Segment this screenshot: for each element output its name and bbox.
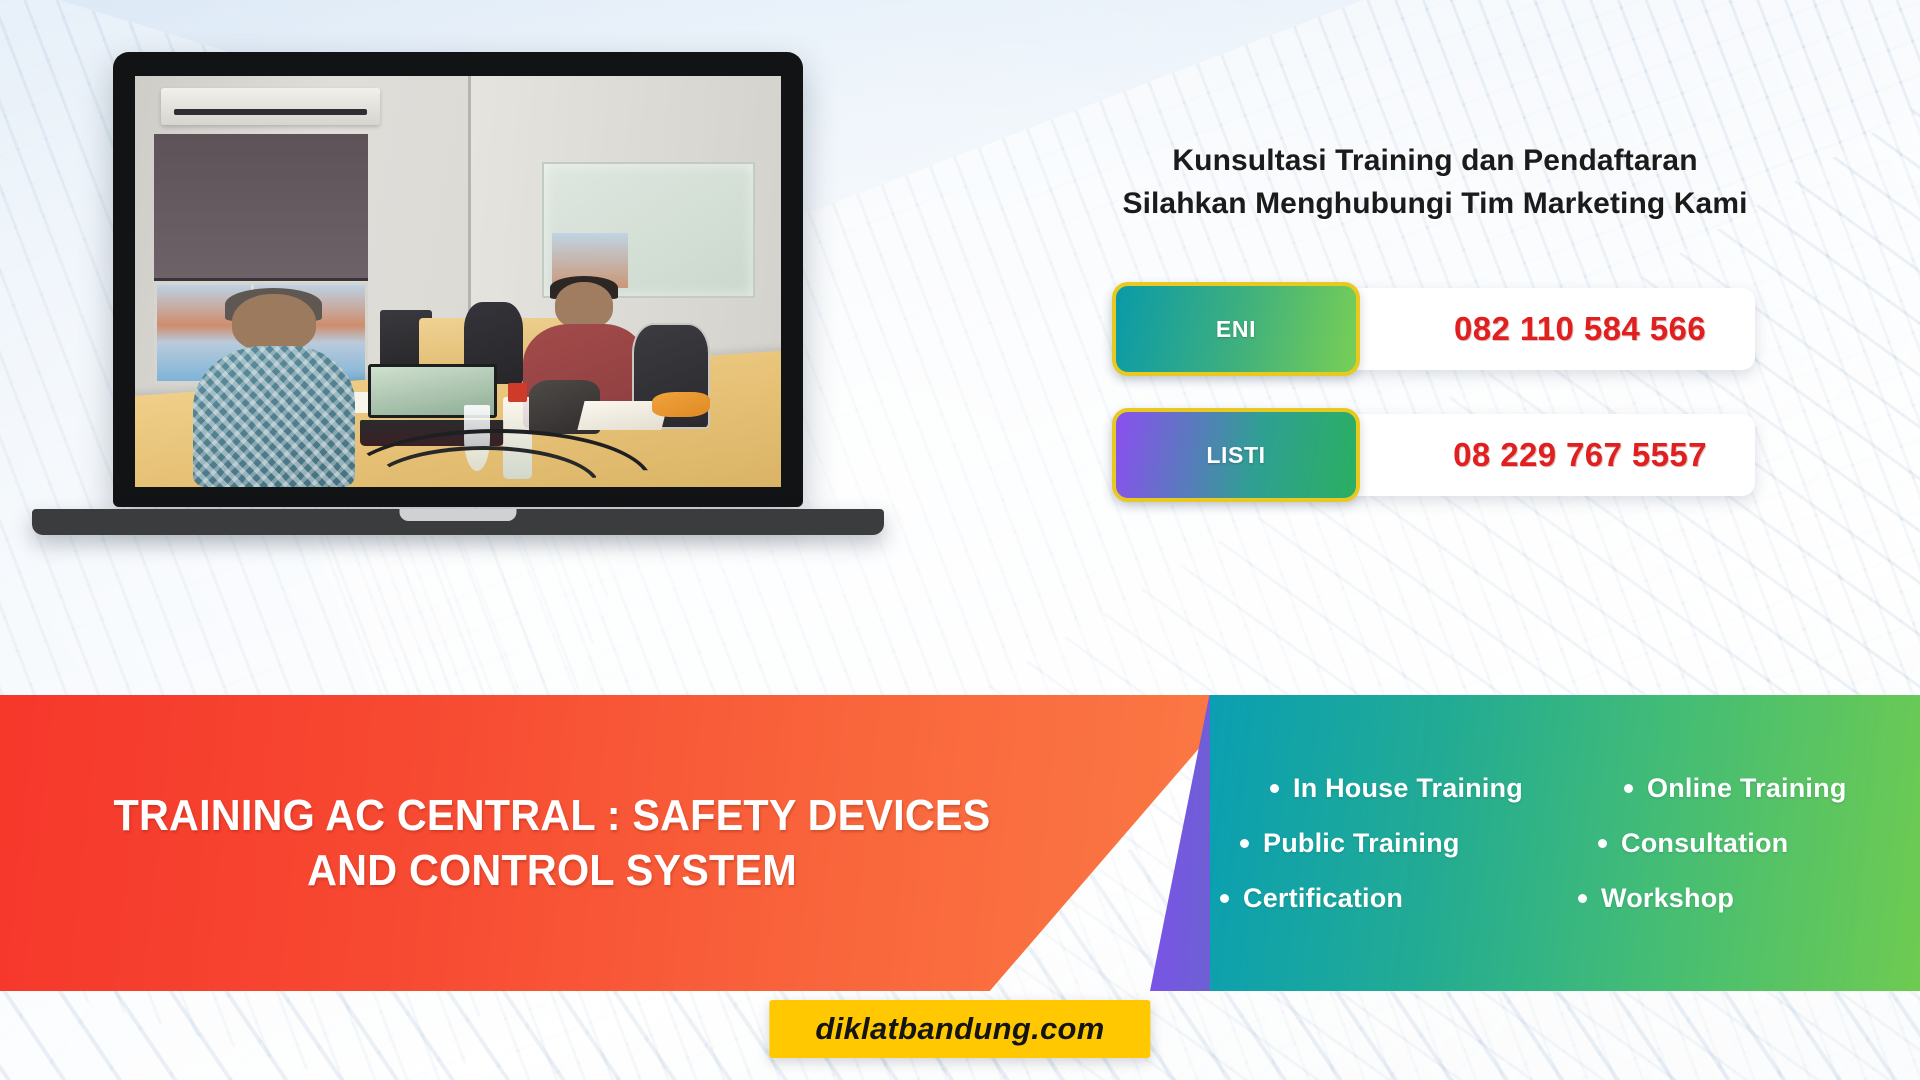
bullet-icon xyxy=(1270,784,1279,793)
contact-heading-line1: Kunsultasi Training dan Pendaftaran xyxy=(1000,140,1870,183)
photo-person-left-batik-shirt xyxy=(193,346,355,487)
training-session-photo xyxy=(135,76,781,487)
banner-services-panel: In House Training Online Training Public… xyxy=(1210,695,1920,991)
service-label: Online Training xyxy=(1647,773,1847,804)
contact-phone-eni[interactable]: 082 110 584 566 xyxy=(1405,310,1755,348)
bullet-icon xyxy=(1624,784,1633,793)
service-item-online-training[interactable]: Online Training xyxy=(1556,773,1892,804)
bullet-icon xyxy=(1578,894,1587,903)
photo-orange-cloth xyxy=(652,392,710,417)
bullet-icon xyxy=(1220,894,1229,903)
service-item-in-house-training[interactable]: In House Training xyxy=(1220,773,1556,804)
service-item-certification[interactable]: Certification xyxy=(1220,883,1556,914)
course-title-line2: AND CONTROL SYSTEM xyxy=(82,843,1022,898)
photo-person-right-head xyxy=(555,282,614,329)
course-title-line1: TRAINING AC CENTRAL : SAFETY DEVICES xyxy=(82,788,1022,843)
service-label: Public Training xyxy=(1263,828,1460,859)
contact-card-eni[interactable]: ENI 082 110 584 566 xyxy=(1115,288,1755,370)
service-label: Certification xyxy=(1243,883,1403,914)
service-item-consultation[interactable]: Consultation xyxy=(1556,828,1892,859)
contact-name-badge-eni: ENI xyxy=(1112,282,1360,376)
service-item-workshop[interactable]: Workshop xyxy=(1556,883,1892,914)
banner-title-panel: TRAINING AC CENTRAL : SAFETY DEVICES AND… xyxy=(0,695,1245,991)
service-label: Consultation xyxy=(1621,828,1788,859)
photo-air-conditioner xyxy=(161,88,381,125)
contact-heading: Kunsultasi Training dan Pendaftaran Sila… xyxy=(1000,140,1870,225)
photo-window-blind xyxy=(154,134,367,282)
laptop-lid xyxy=(113,52,803,507)
contact-phone-listi[interactable]: 08 229 767 5557 xyxy=(1405,436,1755,474)
bottom-banner: TRAINING AC CENTRAL : SAFETY DEVICES AND… xyxy=(0,695,1920,991)
services-list: In House Training Online Training Public… xyxy=(1210,773,1920,914)
laptop-base xyxy=(32,509,884,535)
bullet-icon xyxy=(1598,839,1607,848)
contact-card-listi[interactable]: LISTI 08 229 767 5557 xyxy=(1115,414,1755,496)
contact-heading-line2: Silahkan Menghubungi Tim Marketing Kami xyxy=(1000,183,1870,226)
course-title: TRAINING AC CENTRAL : SAFETY DEVICES AND… xyxy=(82,788,1022,898)
service-item-public-training[interactable]: Public Training xyxy=(1220,828,1556,859)
service-label: Workshop xyxy=(1601,883,1734,914)
photo-person-left xyxy=(193,294,355,487)
laptop-base-notch xyxy=(400,509,517,521)
laptop-screen xyxy=(135,76,781,487)
photo-person-left-head xyxy=(232,294,316,352)
service-label: In House Training xyxy=(1293,773,1523,804)
bullet-icon xyxy=(1240,839,1249,848)
contact-section: Kunsultasi Training dan Pendaftaran Sila… xyxy=(1000,140,1870,496)
website-badge[interactable]: diklatbandung.com xyxy=(769,1000,1150,1058)
laptop-mockup xyxy=(113,52,813,507)
contact-name-badge-listi: LISTI xyxy=(1112,408,1360,502)
